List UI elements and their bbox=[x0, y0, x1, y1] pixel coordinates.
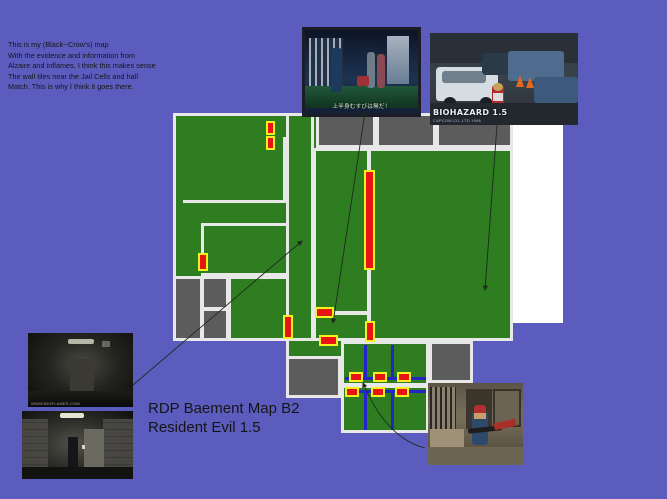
map-gray-room-n2 bbox=[376, 113, 436, 148]
map-gray-room-se bbox=[429, 341, 473, 383]
map-gray-room-n1 bbox=[316, 113, 376, 148]
photo-armory-room[interactable] bbox=[428, 383, 523, 465]
map-gray-room-sw-1 bbox=[173, 276, 203, 341]
photo-dark-corridor-upper[interactable]: WWW.BIOFLAMES.COM bbox=[28, 333, 133, 407]
map-canvas: This is my (Black--Crow's) map With the … bbox=[0, 0, 667, 499]
photo-parking-garage[interactable]: BIOHAZARD 1.5 CAPCOM CO.,LTD 1996 bbox=[430, 33, 578, 125]
map-gray-room-s1 bbox=[286, 356, 341, 398]
annotation-note: This is my (Black--Crow's) map With the … bbox=[8, 40, 183, 93]
map-door-cell-l1 bbox=[345, 387, 359, 397]
map-door-north-lower bbox=[266, 136, 275, 150]
map-title: RDP Baement Map B2 Resident Evil 1.5 bbox=[148, 399, 299, 437]
photo-dark-corridor-caption: WWW.BIOFLAMES.COM bbox=[31, 401, 80, 406]
photo-jail-cells-cutscene[interactable]: 上半身むすびは無だ！ bbox=[302, 27, 421, 117]
map-door-cell-u3 bbox=[397, 372, 411, 382]
map-door-west-mid bbox=[198, 253, 208, 271]
map-wall-ul-horz bbox=[183, 200, 288, 203]
map-door-hall-west bbox=[315, 307, 334, 318]
photo-dark-corridor-lower[interactable] bbox=[22, 411, 133, 479]
map-wall-ml-top bbox=[201, 223, 289, 226]
map-cell-bar-l2 bbox=[391, 392, 394, 430]
map-door-north-upper bbox=[266, 121, 275, 135]
map-door-cell-u2 bbox=[373, 372, 387, 382]
photo-jail-cells-subtitle: 上半身むすびは無だ！ bbox=[332, 102, 390, 110]
map-door-cell-l2 bbox=[371, 387, 385, 397]
map-door-corridor-south bbox=[283, 315, 293, 339]
map-door-main-hall-long bbox=[364, 170, 375, 270]
photo-parking-garage-subcaption: CAPCOM CO.,LTD 1996 bbox=[433, 118, 481, 123]
map-door-cell-l3 bbox=[395, 387, 409, 397]
map-gray-room-sw-3 bbox=[201, 308, 229, 341]
map-room-lower-left bbox=[228, 276, 289, 341]
map-door-cell-u1 bbox=[349, 372, 363, 382]
map-door-hall-center-south bbox=[365, 321, 375, 342]
map-cell-bar-u2 bbox=[391, 345, 394, 379]
map-blank-panel-right bbox=[513, 123, 563, 323]
map-cell-bar-l1 bbox=[364, 392, 367, 430]
map-cell-bar-u1 bbox=[364, 345, 367, 379]
map-gray-room-sw-2 bbox=[201, 276, 229, 310]
photo-parking-garage-caption: BIOHAZARD 1.5 bbox=[433, 108, 507, 117]
map-door-hall-west-2 bbox=[319, 335, 338, 346]
